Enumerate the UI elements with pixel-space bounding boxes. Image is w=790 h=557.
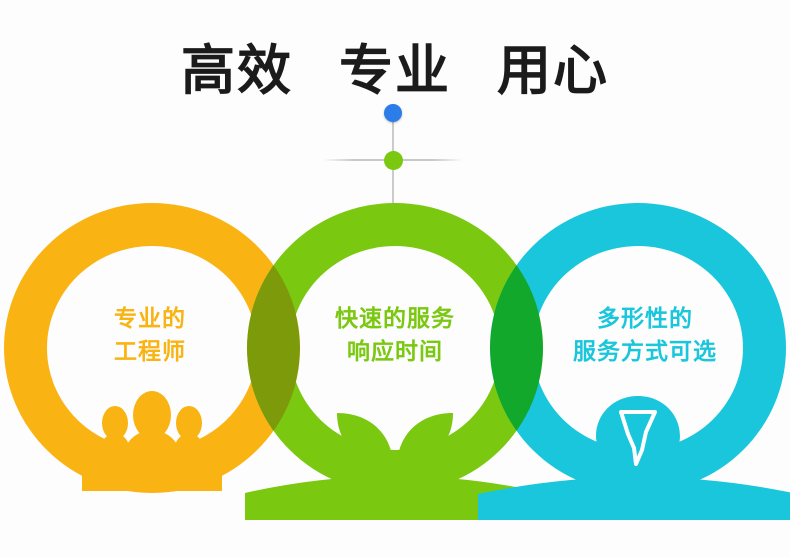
blue-node-icon [384,104,402,122]
infographic-canvas: 高效专业用心 [0,0,790,557]
headline-word-1: 高效 [181,26,293,105]
headline-word-2: 专业 [339,26,451,105]
headline-word-3: 用心 [497,26,609,105]
green-node-icon [384,151,403,170]
venn-diagram [0,190,790,520]
page-title: 高效专业用心 [0,26,790,105]
